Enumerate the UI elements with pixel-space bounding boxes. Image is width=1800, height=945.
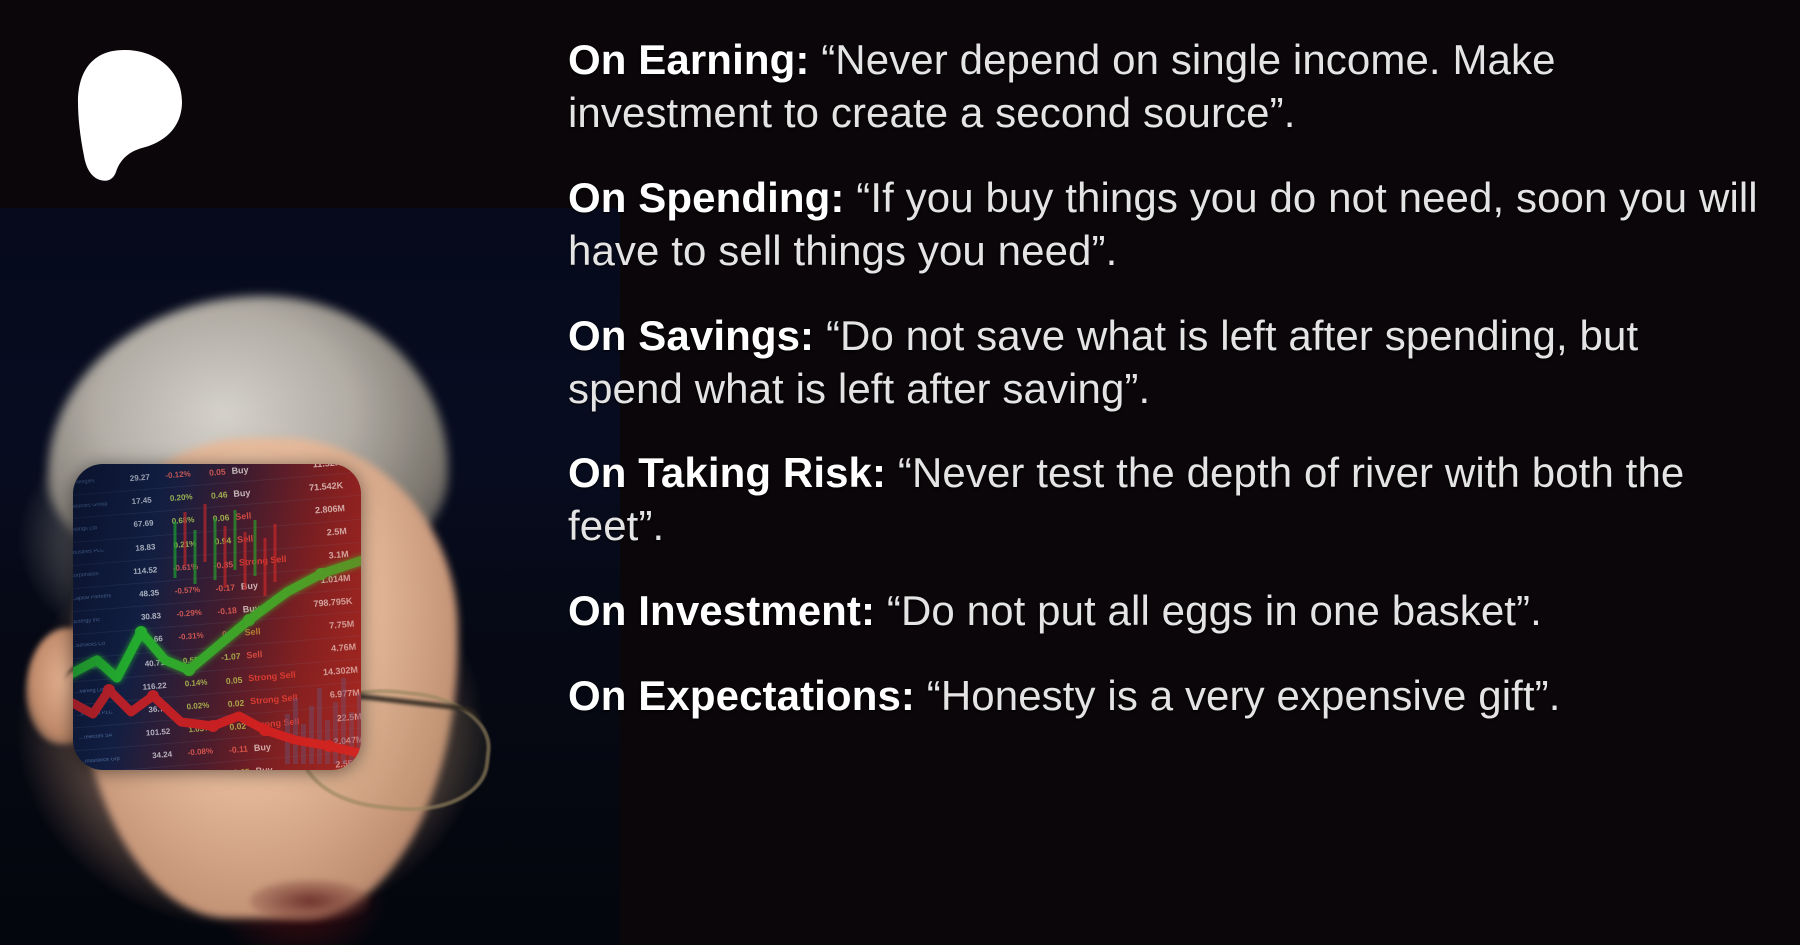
ticker-change: 0.65 [220, 767, 257, 770]
quote-label: On Taking Risk: [568, 449, 886, 496]
ticker-volume: 14.302M [310, 666, 359, 679]
ticker-signal: Buy [242, 600, 305, 614]
portrait-mouth [250, 880, 370, 922]
ticker-signal: Sell [244, 623, 307, 637]
ticker-signal: Strong Sell [239, 554, 302, 568]
ticker-change: -0.85 [203, 559, 240, 570]
ticker-name: ...Holdings Ltd [73, 524, 118, 534]
ticker-change: -0.18 [207, 606, 244, 617]
quote-label: On Savings: [568, 312, 814, 359]
ticker-name: ...Mining Ltd [75, 686, 131, 696]
ticker-change: 0.46 [197, 490, 234, 501]
stock-ticker-widget[interactable]: ...Technologies29.27-0.12%0.05Buy11.52K.… [73, 464, 361, 770]
ticker-change: 0.02 [216, 721, 253, 732]
ticker-change-percent: 0.68% [157, 516, 200, 527]
ticker-volume: 1.014M [302, 573, 351, 586]
ticker-change-percent: 0.21% [159, 539, 202, 550]
ticker-price: 67.69 [117, 520, 158, 531]
ticker-price: 57.66 [127, 635, 168, 646]
page-root: ...Technologies29.27-0.12%0.05Buy11.52K.… [0, 0, 1800, 945]
ticker-change-percent: -0.29% [165, 609, 208, 620]
ticker-volume: 2.806M [297, 504, 346, 517]
ticker-name: ...Industries PLC [73, 547, 120, 557]
ticker-price: 36.71 [132, 704, 173, 715]
ticker-name: ...Corporation [73, 570, 122, 580]
ticker-change-percent: -0.61% [161, 562, 204, 573]
ticker-volume: 6.977M [312, 689, 361, 702]
quote-block: On Earning: “Never depend on single inco… [568, 34, 1764, 140]
ticker-change: 0.05 [212, 675, 249, 686]
ticker-signal: Buy [255, 762, 318, 770]
ticker-name: ...Resources Group [73, 501, 116, 511]
quote-block: On Expectations: “Honesty is a very expe… [568, 670, 1764, 723]
quotes-panel: On Earning: “Never depend on single inco… [568, 0, 1800, 945]
ticker-signal: Buy [231, 464, 294, 476]
ticker-volume: 2.553M [317, 758, 361, 770]
ticker-price: 34.24 [136, 751, 177, 762]
ticker-volume: 3.1M [300, 550, 349, 563]
ticker-change-percent: 0.50% [168, 655, 211, 666]
ticker-price: 18.83 [119, 543, 160, 554]
ticker-change: 0.56 [208, 629, 245, 640]
ticker-signal: Sell [246, 647, 309, 661]
ticker-name: ...Services Co [73, 640, 127, 650]
ticker-price: 40.71 [129, 658, 170, 669]
ticker-change: -0.17 [205, 582, 242, 593]
ticker-change-percent: 1.03% [174, 724, 217, 735]
ticker-price: 30.83 [125, 612, 166, 623]
ticker-name: ...Telecom SA [78, 732, 134, 742]
ticker-volume: 11.52K [293, 464, 342, 471]
ticker-change-percent: 0.14% [170, 678, 213, 689]
ticker-change: 0.02 [214, 698, 251, 709]
ticker-signal: Sell [235, 508, 298, 522]
ticker-name: ...Pharma PLC [77, 709, 133, 719]
ticker-change: 0.05 [195, 467, 232, 478]
ticker-signal: Strong Sell [248, 670, 311, 684]
ticker-change-percent: 0.02% [172, 701, 215, 712]
ticker-signal: Strong Sell [252, 716, 315, 730]
quote-block: On Taking Risk: “Never test the depth of… [568, 447, 1764, 553]
ticker-signal: Strong Sell [250, 693, 313, 707]
ticker-change-percent: 0.20% [155, 493, 198, 504]
ticker-signal: Sell [237, 531, 300, 545]
ticker-name: ...Bank Group [73, 663, 129, 673]
ticker-name: ...Technologies [73, 478, 114, 488]
quote-label: On Earning: [568, 36, 809, 83]
ticker-price: 29.27 [114, 473, 155, 484]
quote-block: On Investment: “Do not put all eggs in o… [568, 585, 1764, 638]
ticker-volume: 22.5M [313, 712, 361, 725]
ticker-change: 0.94 [201, 536, 238, 547]
ticker-volume: 2.047M [315, 735, 361, 748]
quote-text: “Honesty is a very expensive gift”. [927, 672, 1561, 719]
quote-label: On Spending: [568, 174, 845, 221]
ticker-change-percent: -0.08% [176, 747, 219, 758]
ticker-change-percent: -0.31% [167, 632, 210, 643]
ticker-name: ...Capital Partners [73, 593, 123, 603]
left-media-panel: ...Technologies29.27-0.12%0.05Buy11.52K.… [0, 0, 620, 945]
stock-ticker-table: ...Technologies29.27-0.12%0.05Buy11.52K.… [73, 464, 361, 770]
ticker-price: 48.35 [123, 589, 164, 600]
ticker-change-percent: -0.12% [154, 470, 197, 481]
ticker-change: -0.11 [218, 744, 255, 755]
quote-block: On Spending: “If you buy things you do n… [568, 172, 1764, 278]
ticker-signal: Buy [241, 577, 304, 591]
ticker-name: ...Energy Inc [73, 616, 125, 626]
ticker-volume: 2.5M [299, 527, 348, 540]
ticker-volume: 798.795K [304, 596, 353, 609]
ticker-volume: 71.542K [295, 481, 344, 494]
ticker-volume: 7.75M [306, 620, 355, 633]
ticker-change-percent: -0.57% [163, 586, 206, 597]
quote-text: “Do not put all eggs in one basket”. [887, 587, 1542, 634]
quote-label: On Investment: [568, 587, 875, 634]
ticker-price: 116.22 [130, 681, 171, 692]
ticker-signal: Buy [233, 485, 296, 499]
quote-block: On Savings: “Do not save what is left af… [568, 310, 1764, 416]
ticker-price: 114.52 [121, 566, 162, 577]
quote-label: On Expectations: [568, 672, 915, 719]
ticker-change: -1.07 [210, 652, 247, 663]
ticker-price: 17.45 [116, 496, 157, 507]
ticker-volume: 4.76M [308, 643, 357, 656]
ticker-change: 0.06 [199, 513, 236, 524]
ticker-name: ...Insurance Grp [80, 755, 136, 765]
patreon-logo-icon[interactable] [66, 44, 186, 184]
ticker-signal: Buy [254, 739, 317, 753]
ticker-price: 101.52 [134, 728, 175, 739]
